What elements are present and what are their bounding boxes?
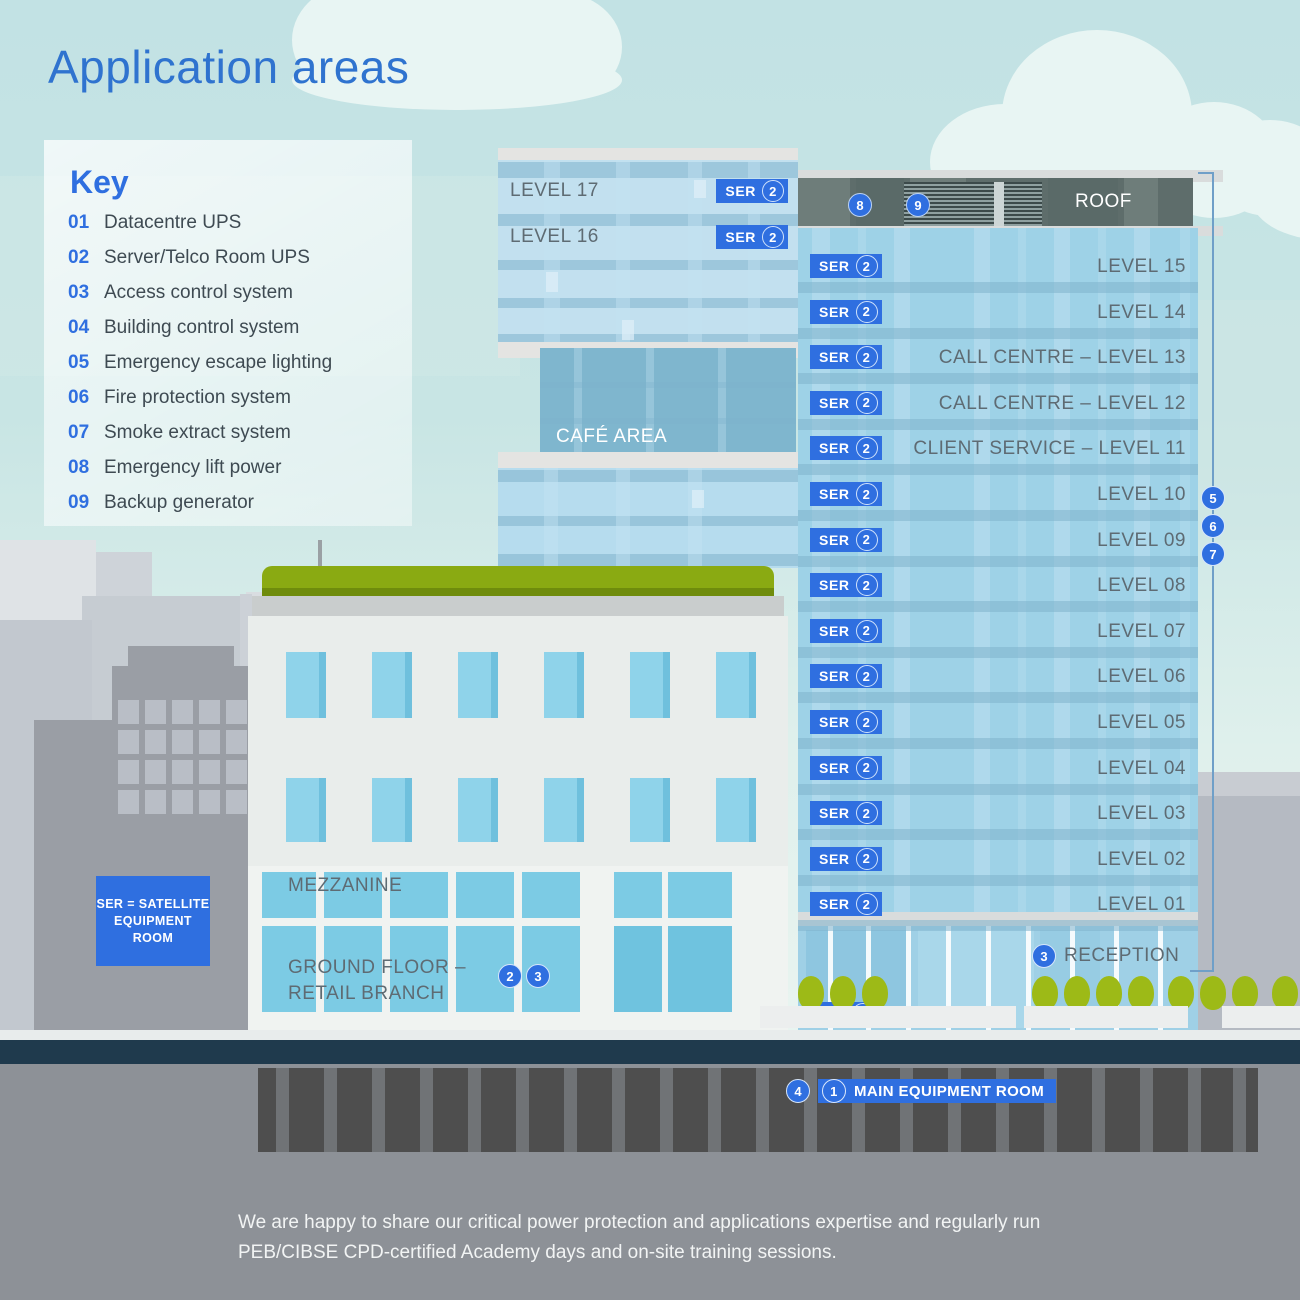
ser-badge-number: 2 xyxy=(762,226,784,248)
tree xyxy=(1272,976,1298,1010)
basement-pillar xyxy=(1092,1068,1105,1152)
key-item-08: 08Emergency lift power xyxy=(68,457,428,492)
louver-vent xyxy=(994,182,1004,226)
key-heading: Key xyxy=(70,164,129,201)
connector-hook-bottom xyxy=(1190,970,1214,972)
mullion xyxy=(540,418,796,424)
level-label: LEVEL 03 xyxy=(0,803,1186,825)
tree xyxy=(830,976,856,1010)
tree xyxy=(1096,976,1122,1010)
tree xyxy=(1064,976,1090,1010)
basement-badge-4[interactable]: 4 xyxy=(786,1079,810,1103)
mullion xyxy=(798,419,1198,430)
key-item-07: 07Smoke extract system xyxy=(68,422,428,457)
ground-floor-label-line2: RETAIL BRANCH xyxy=(288,983,444,1004)
key-item-number: 03 xyxy=(68,282,104,304)
level-label: LEVEL 08 xyxy=(0,575,1186,597)
tree xyxy=(862,976,888,1010)
level-label: LEVEL 17 xyxy=(510,180,599,202)
key-item-label: Server/Telco Room UPS xyxy=(104,247,310,269)
mullion xyxy=(798,875,1198,886)
key-item-number: 08 xyxy=(68,457,104,479)
tree xyxy=(1128,976,1154,1010)
reception-label: RECEPTION xyxy=(1064,945,1179,967)
connector-badge-7[interactable]: 7 xyxy=(1201,542,1225,566)
mullion xyxy=(798,738,1198,749)
ground-floor-label-line1: GROUND FLOOR – xyxy=(288,957,466,978)
key-item-number: 09 xyxy=(68,492,104,514)
key-item-05: 05Emergency escape lighting xyxy=(68,352,428,387)
key-item-label: Access control system xyxy=(104,282,293,304)
basement-pillar xyxy=(756,1068,769,1152)
ser-legend-text: SER = SATELLITE EQUIPMENT ROOM xyxy=(96,896,210,947)
ser-legend-box: SER = SATELLITE EQUIPMENT ROOM xyxy=(96,876,210,966)
key-item-number: 05 xyxy=(68,352,104,374)
mullion xyxy=(498,516,798,526)
mullion xyxy=(798,510,1198,521)
key-item-09: 09Backup generator xyxy=(68,492,428,527)
connector-line xyxy=(1212,172,1214,972)
basement-pillar xyxy=(1140,1068,1153,1152)
mullion xyxy=(798,464,1198,475)
main-equipment-room-bar[interactable]: 1 MAIN EQUIPMENT ROOM xyxy=(818,1079,1056,1103)
mullion xyxy=(798,692,1198,703)
mullion xyxy=(798,556,1198,567)
key-item-04: 04Building control system xyxy=(68,317,428,352)
mullion xyxy=(798,328,1198,339)
key-item-label: Backup generator xyxy=(104,492,254,514)
key-item-number: 06 xyxy=(68,387,104,409)
key-item-01: 01Datacentre UPS xyxy=(68,212,428,247)
key-item-06: 06Fire protection system xyxy=(68,387,428,422)
storefront-entrance xyxy=(668,926,732,1012)
key-item-number: 01 xyxy=(68,212,104,234)
mullion xyxy=(798,829,1198,840)
mullion xyxy=(498,470,798,482)
basement-pillar xyxy=(468,1068,481,1152)
tree xyxy=(1200,976,1226,1010)
level-label: LEVEL 04 xyxy=(0,758,1186,780)
basement-pillar xyxy=(1233,1068,1246,1152)
ser-badge[interactable]: SER 2 xyxy=(716,225,788,249)
key-item-label: Smoke extract system xyxy=(104,422,291,444)
basement-pillar xyxy=(660,1068,673,1152)
mullion xyxy=(798,647,1198,658)
left-tower-top-cap xyxy=(498,148,798,160)
ser-badge[interactable]: SER 2 xyxy=(716,179,788,203)
basement-pillar xyxy=(564,1068,577,1152)
tree xyxy=(1032,976,1058,1010)
tree xyxy=(1232,976,1258,1010)
roof-label: ROOF xyxy=(1075,191,1132,213)
mullion xyxy=(798,920,1198,931)
key-item-number: 04 xyxy=(68,317,104,339)
level-label: LEVEL 06 xyxy=(0,666,1186,688)
key-list: 01Datacentre UPS02Server/Telco Room UPS0… xyxy=(68,212,428,527)
basement-badge-1: 1 xyxy=(822,1079,846,1103)
low-building-facade xyxy=(248,616,788,866)
mullion xyxy=(544,468,558,568)
key-item-label: Datacentre UPS xyxy=(104,212,241,234)
mullion xyxy=(798,282,1198,293)
tree xyxy=(1168,976,1194,1010)
key-item-number: 02 xyxy=(68,247,104,269)
basement-pillar xyxy=(420,1068,433,1152)
ser-badge-text: SER xyxy=(725,229,756,245)
roof-badge-8[interactable]: 8 xyxy=(848,193,872,217)
mullion xyxy=(798,601,1198,612)
page-title: Application areas xyxy=(48,40,409,94)
ser-badge-text: SER xyxy=(725,183,756,199)
mullion xyxy=(540,382,796,388)
left-tower-level-row: LEVEL 17 SER 2 xyxy=(510,176,788,206)
mullion xyxy=(798,784,1198,795)
kerb xyxy=(1024,1006,1188,1028)
roof-slab xyxy=(252,596,784,618)
mullion xyxy=(688,468,702,568)
tree xyxy=(798,976,824,1010)
ser-badge-number: 2 xyxy=(762,180,784,202)
basement-pillar xyxy=(372,1068,385,1152)
reception-badge[interactable]: 3 xyxy=(1032,944,1056,968)
connector-badge-5[interactable]: 5 xyxy=(1201,486,1225,510)
key-item-02: 02Server/Telco Room UPS xyxy=(68,247,428,282)
street-band xyxy=(0,1040,1300,1066)
roof-badge-9[interactable]: 9 xyxy=(906,193,930,217)
basement-pillar xyxy=(612,1068,625,1152)
kerb xyxy=(760,1006,1016,1028)
footer-text: We are happy to share our critical power… xyxy=(238,1208,1068,1268)
basement-pillar xyxy=(1188,1068,1201,1152)
level-label: LEVEL 05 xyxy=(0,712,1186,734)
connector-badge-6[interactable]: 6 xyxy=(1201,514,1225,538)
basement-level xyxy=(258,1068,1258,1152)
kerb xyxy=(1222,1006,1300,1028)
key-item-label: Building control system xyxy=(104,317,299,339)
ground-floor-badge-2[interactable]: 2 xyxy=(498,964,522,988)
mullion xyxy=(798,373,1198,384)
mullion xyxy=(498,554,798,566)
basement-pillar xyxy=(276,1068,289,1152)
left-tower-level-row: LEVEL 16 SER 2 xyxy=(510,222,788,252)
key-item-label: Emergency lift power xyxy=(104,457,281,479)
key-item-label: Fire protection system xyxy=(104,387,291,409)
roof-pane xyxy=(798,178,850,230)
basement-pillar xyxy=(708,1068,721,1152)
key-item-03: 03Access control system xyxy=(68,282,428,317)
level-label: LEVEL 07 xyxy=(0,621,1186,643)
key-item-number: 07 xyxy=(68,422,104,444)
main-equipment-room-label: MAIN EQUIPMENT ROOM xyxy=(854,1083,1044,1100)
mullion xyxy=(616,468,630,568)
key-item-label: Emergency escape lighting xyxy=(104,352,332,374)
level-label: LEVEL 09 xyxy=(0,530,1186,552)
ground-floor-label: GROUND FLOOR – RETAIL BRANCH xyxy=(288,955,466,1007)
main-equipment-room: 4 1 MAIN EQUIPMENT ROOM xyxy=(786,1078,1056,1104)
level-label: LEVEL 16 xyxy=(510,226,599,248)
basement-pillar xyxy=(324,1068,337,1152)
level-label: LEVEL 02 xyxy=(0,849,1186,871)
basement-pillar xyxy=(516,1068,529,1152)
storefront-entrance xyxy=(614,926,662,1012)
infographic-canvas: CAFÉ AREA LEVEL 17 SER 2 LEVEL 16 SER 2 … xyxy=(0,0,1300,1300)
ground-floor-badge-3[interactable]: 3 xyxy=(526,964,550,988)
